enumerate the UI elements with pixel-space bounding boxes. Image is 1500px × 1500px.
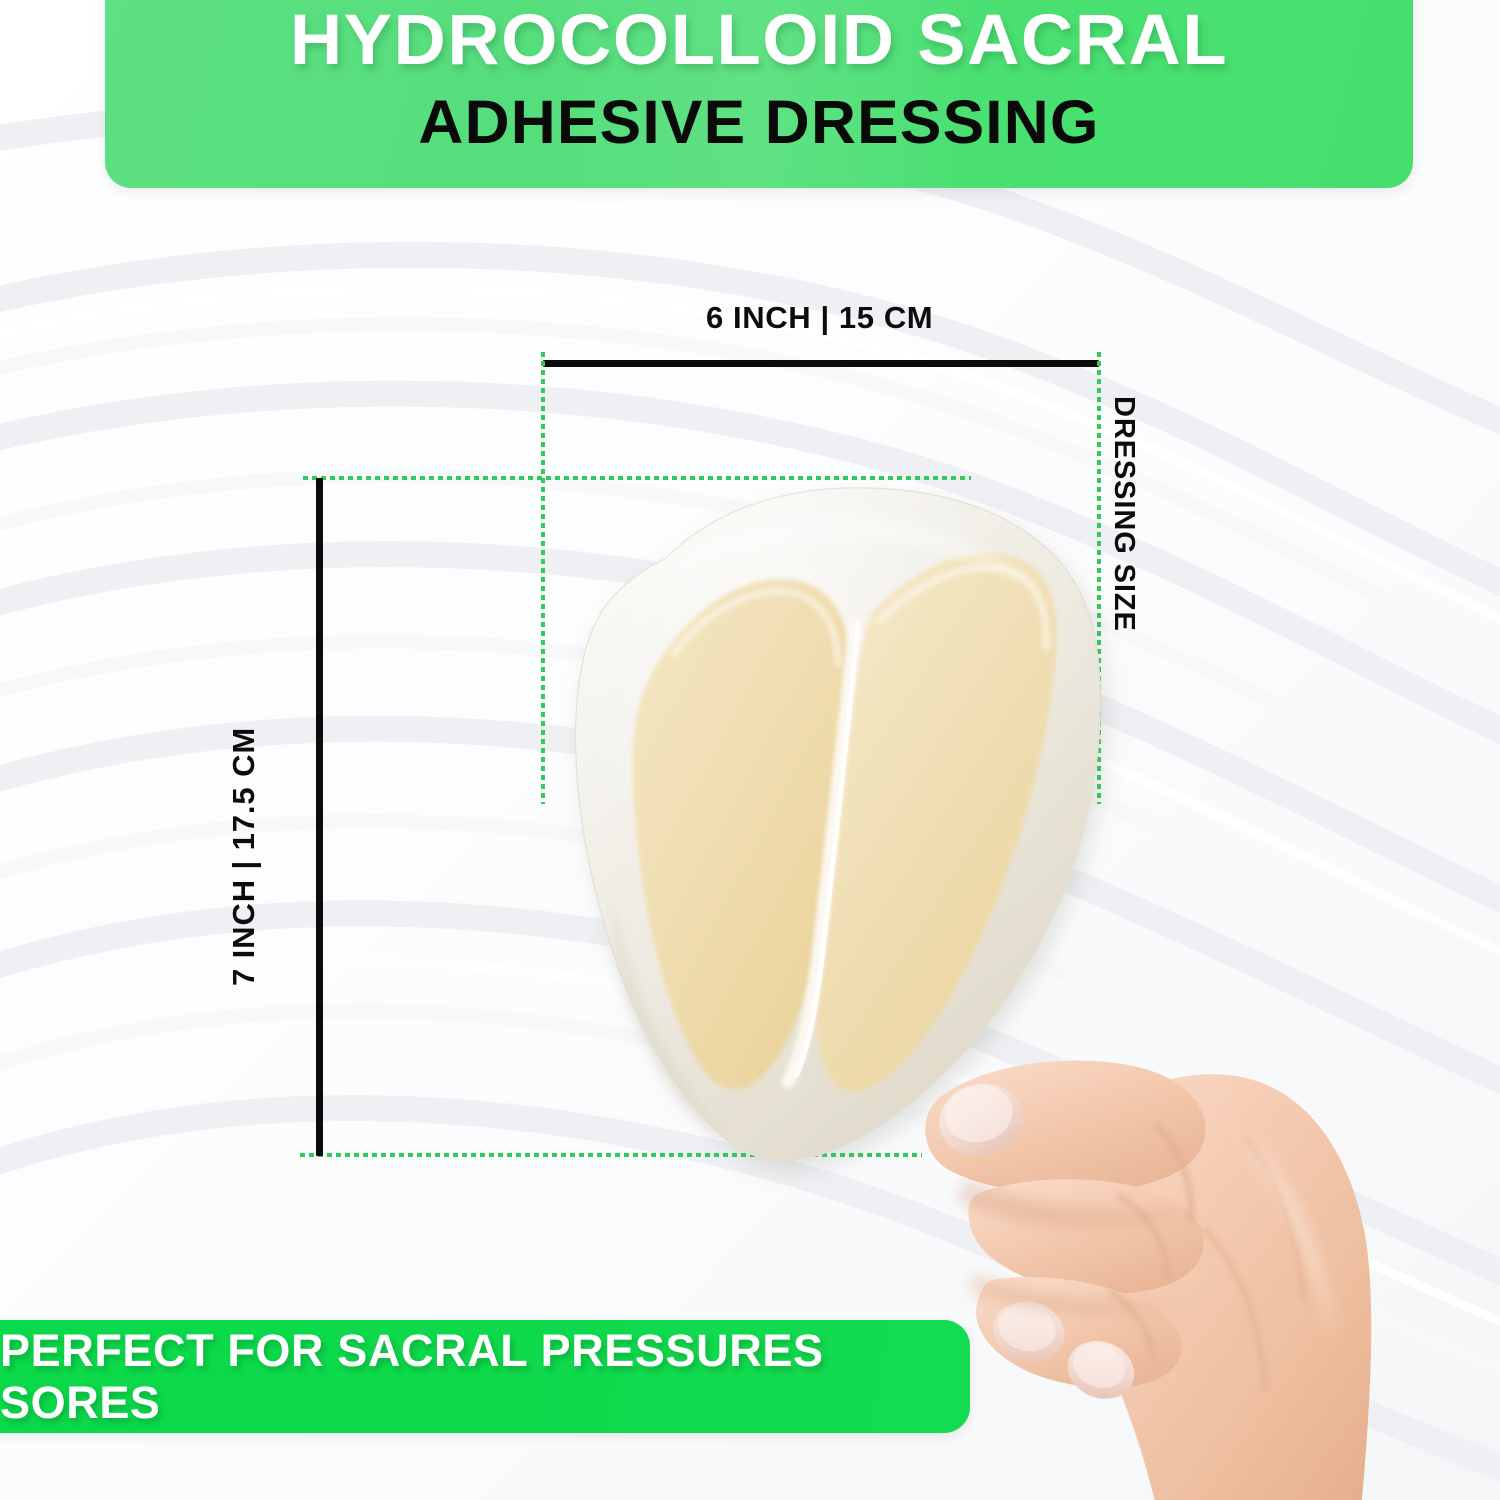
width-measurement-label: 6 INCH | 15 CM bbox=[706, 300, 933, 336]
header-banner: HYDROCOLLOID SACRAL ADHESIVE DRESSING bbox=[105, 0, 1413, 188]
height-measurement-label: 7 INCH | 17.5 CM bbox=[226, 727, 262, 986]
footer-tagline: PERFECT FOR SACRAL PRESSURES SORES bbox=[0, 1320, 930, 1433]
height-dimension-rule bbox=[316, 478, 323, 1156]
infographic-canvas: HYDROCOLLOID SACRAL ADHESIVE DRESSING 6 … bbox=[0, 0, 1500, 1500]
header-title-group: HYDROCOLLOID SACRAL ADHESIVE DRESSING bbox=[105, 0, 1413, 158]
width-dimension-rule bbox=[543, 360, 1099, 367]
hand-holding-product bbox=[905, 980, 1375, 1500]
footer-banner: PERFECT FOR SACRAL PRESSURES SORES bbox=[0, 1320, 970, 1433]
page-title-primary: HYDROCOLLOID SACRAL bbox=[92, 0, 1426, 82]
page-title-secondary: ADHESIVE DRESSING bbox=[92, 86, 1426, 158]
